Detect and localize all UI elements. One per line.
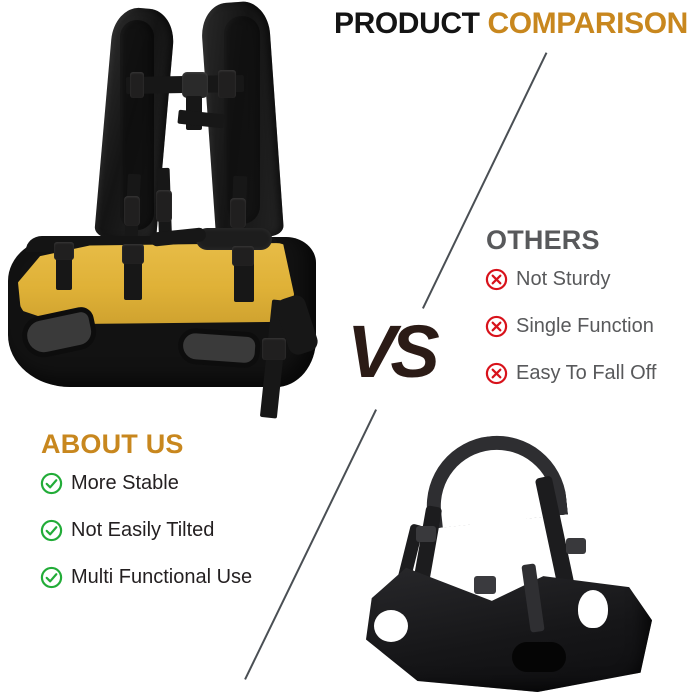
competitor-body [366, 554, 652, 692]
vs-badge: VS [347, 311, 447, 393]
x-circle-icon [485, 315, 508, 338]
list-item-label: Not Easily Tilted [71, 519, 214, 542]
attachment-clip-1 [54, 242, 74, 260]
strap-hook-middle [156, 190, 172, 222]
title-word-product: PRODUCT [334, 7, 480, 40]
list-item: Single Function [485, 313, 656, 340]
vs-label: VS [347, 311, 434, 393]
list-item: Not Sturdy [485, 266, 656, 293]
list-item: More Stable [40, 470, 252, 497]
check-circle-icon [40, 472, 63, 495]
about-us-feature-list: More Stable Not Easily Tilted Multi Func… [40, 470, 252, 611]
main-product-image [0, 0, 340, 430]
list-item-label: Single Function [516, 315, 654, 338]
sternum-buckle [182, 72, 208, 98]
strap-hook-right [230, 198, 246, 228]
list-item-label: More Stable [71, 472, 179, 495]
rear-strap-buckle [262, 338, 286, 360]
divider-line-lower [245, 409, 377, 680]
about-us-heading: ABOUT US [41, 429, 184, 460]
strap-keeper-left [130, 72, 144, 98]
competitor-adjuster-right [566, 538, 586, 554]
page-title: PRODUCT COMPARISON [334, 6, 688, 42]
x-circle-icon [485, 268, 508, 291]
others-feature-list: Not Sturdy Single Function Easy To Fall … [485, 266, 656, 407]
list-item-label: Multi Functional Use [71, 566, 252, 589]
attachment-clip-3 [232, 246, 254, 266]
strap-hook-left [124, 196, 140, 226]
competitor-leg-opening-right [578, 590, 608, 628]
title-word-comparison: COMPARISON [487, 7, 687, 40]
product-comparison-infographic: PRODUCT COMPARISON VS OTHERS Not Sturdy … [0, 0, 700, 700]
check-circle-icon [40, 566, 63, 589]
competitor-leg-opening-left [374, 610, 408, 642]
competitor-riser-right [535, 475, 574, 586]
attachment-clip-2 [122, 244, 144, 264]
competitor-adjuster-left [416, 526, 436, 542]
list-item: Not Easily Tilted [40, 517, 252, 544]
competitor-product-image [366, 414, 700, 700]
list-item: Easy To Fall Off [485, 360, 656, 387]
competitor-center-opening [512, 642, 566, 672]
list-item-label: Easy To Fall Off [516, 362, 656, 385]
check-circle-icon [40, 519, 63, 542]
others-heading: OTHERS [486, 225, 600, 256]
x-circle-icon [485, 362, 508, 385]
list-item: Multi Functional Use [40, 564, 252, 591]
list-item-label: Not Sturdy [516, 268, 610, 291]
competitor-buckle [474, 576, 496, 594]
leg-opening-right [177, 327, 261, 369]
strap-keeper-right [218, 70, 236, 98]
